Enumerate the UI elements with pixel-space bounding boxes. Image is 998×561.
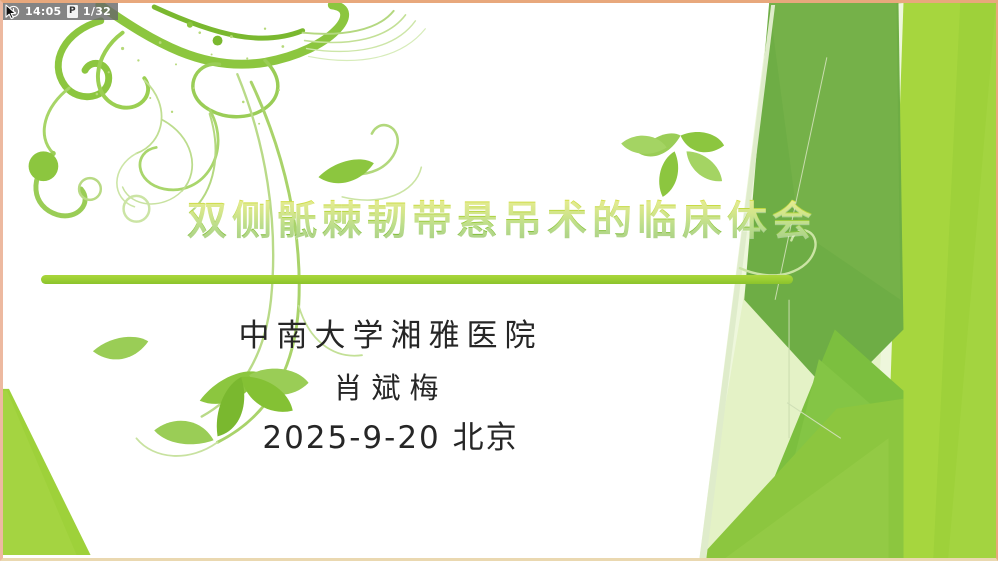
presenter-line: 肖斌梅	[3, 374, 778, 403]
presentation-slide: 双侧骶棘韧带悬吊术的临床体会 中南大学湘雅医院 肖斌梅 2025-9-20 北京…	[0, 0, 998, 561]
organization-line: 中南大学湘雅医院	[3, 321, 778, 352]
slide-body: 中南大学湘雅医院 肖斌梅 2025-9-20 北京	[3, 321, 778, 454]
mouse-cursor-icon	[5, 4, 19, 20]
elapsed-time: 14:05	[25, 5, 62, 18]
title-container: 双侧骶棘韧带悬吊术的临床体会	[3, 199, 998, 244]
green-divider-bar	[41, 275, 793, 284]
page-badge-icon: P	[67, 5, 78, 18]
slide-title: 双侧骶棘韧带悬吊术的临床体会	[187, 199, 817, 244]
page-counter: 1/32	[83, 5, 111, 18]
player-status-bar[interactable]: 14:05 P 1/32	[3, 3, 118, 20]
date-location-line: 2025-9-20 北京	[3, 423, 778, 454]
